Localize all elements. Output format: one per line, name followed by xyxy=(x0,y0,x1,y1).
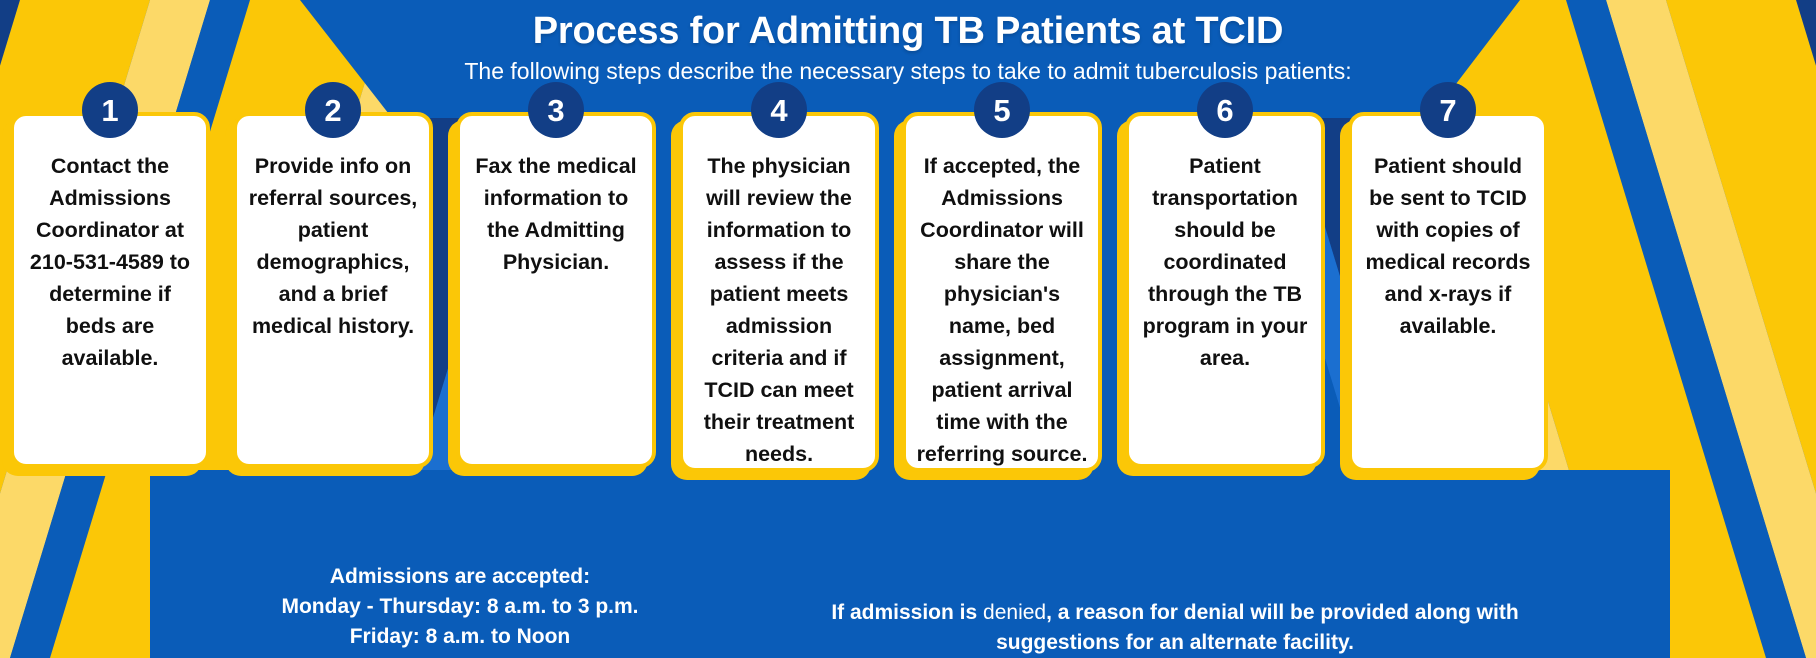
denial-note-part2: , a reason for denial will be provided a… xyxy=(996,601,1519,654)
page-subtitle: The following steps describe the necessa… xyxy=(0,56,1816,86)
step-text: Patient transportation should be coordin… xyxy=(1139,150,1311,374)
card-body: Provide info on referral sources, patien… xyxy=(233,112,433,468)
card-body: Patient should be sent to TCID with copi… xyxy=(1348,112,1548,472)
step-card-5[interactable]: If accepted, the Admissions Coordinator … xyxy=(902,112,1102,472)
step-number-badge: 7 xyxy=(1420,82,1476,138)
card-body: Fax the medical information to the Admit… xyxy=(456,112,656,468)
footer-denial-note: If admission is denied, a reason for den… xyxy=(780,598,1570,658)
step-text: The physician will review the informatio… xyxy=(693,150,865,470)
step-card-1[interactable]: Contact the Admissions Coordinator at 21… xyxy=(10,112,210,468)
card-body: If accepted, the Admissions Coordinator … xyxy=(902,112,1102,472)
step-card-4[interactable]: The physician will review the informatio… xyxy=(679,112,879,472)
step-cards-row: Contact the Admissions Coordinator at 21… xyxy=(0,112,1816,484)
step-text: If accepted, the Admissions Coordinator … xyxy=(916,150,1088,470)
step-text: Contact the Admissions Coordinator at 21… xyxy=(24,150,196,374)
step-number-badge: 4 xyxy=(751,82,807,138)
step-number-badge: 2 xyxy=(305,82,361,138)
step-card-2[interactable]: Provide info on referral sources, patien… xyxy=(233,112,433,468)
step-text: Provide info on referral sources, patien… xyxy=(247,150,419,342)
header: Process for Admitting TB Patients at TCI… xyxy=(0,0,1816,86)
card-body: Patient transportation should be coordin… xyxy=(1125,112,1325,468)
hours-friday: Friday: 8 a.m. to Noon xyxy=(150,622,770,652)
card-body: Contact the Admissions Coordinator at 21… xyxy=(10,112,210,468)
page-title: Process for Admitting TB Patients at TCI… xyxy=(0,8,1816,54)
step-text: Patient should be sent to TCID with copi… xyxy=(1362,150,1534,342)
step-number-badge: 3 xyxy=(528,82,584,138)
step-number-badge: 1 xyxy=(82,82,138,138)
footer-admissions-hours: Admissions are accepted: Monday - Thursd… xyxy=(150,562,770,652)
step-number-badge: 6 xyxy=(1197,82,1253,138)
step-card-7[interactable]: Patient should be sent to TCID with copi… xyxy=(1348,112,1548,472)
card-body: The physician will review the informatio… xyxy=(679,112,879,472)
denial-note-emphasis: denied xyxy=(983,601,1046,624)
hours-heading: Admissions are accepted: xyxy=(150,562,770,592)
hours-weekday: Monday - Thursday: 8 a.m. to 3 p.m. xyxy=(150,592,770,622)
denial-note-text: If admission is denied, a reason for den… xyxy=(780,598,1570,658)
step-card-6[interactable]: Patient transportation should be coordin… xyxy=(1125,112,1325,468)
denial-note-part1: If admission is xyxy=(831,601,983,624)
infographic-canvas: Process for Admitting TB Patients at TCI… xyxy=(0,0,1816,658)
step-number-badge: 5 xyxy=(974,82,1030,138)
step-text: Fax the medical information to the Admit… xyxy=(470,150,642,278)
step-card-3[interactable]: Fax the medical information to the Admit… xyxy=(456,112,656,468)
